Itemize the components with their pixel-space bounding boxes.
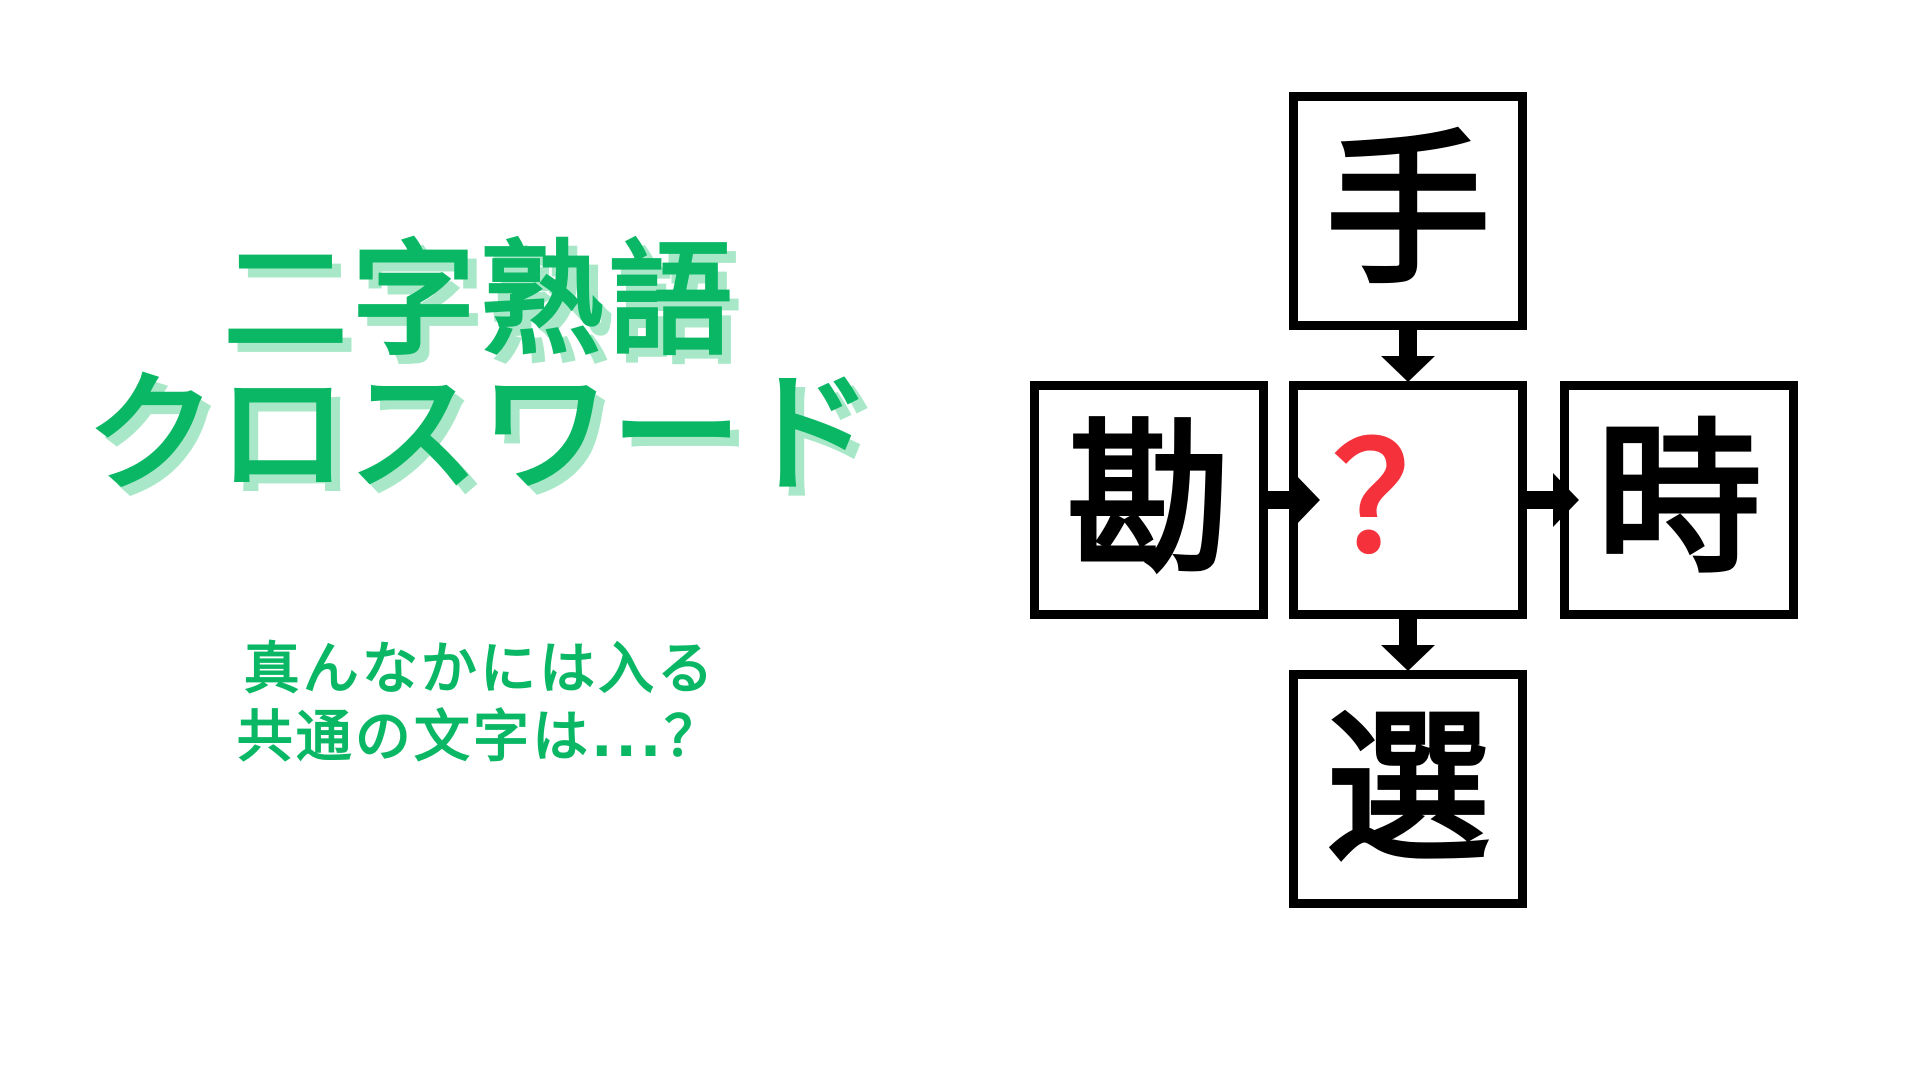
subtitle-line-1: 真んなかには入る: [0, 636, 960, 704]
subtitle-block: 真んなかには入る 共通の文字は...？: [0, 636, 960, 773]
title-panel: 二字熟語 クロスワード 真んなかには入る 共通の文字は...？: [0, 0, 960, 1080]
crossword-panel: 手 勘 ？ 時 選: [960, 0, 1920, 1080]
crossword-cell-top[interactable]: 手: [1289, 92, 1527, 330]
headline-line-1: 二字熟語: [0, 238, 960, 364]
crossword-cell-center-answer[interactable]: ？: [1289, 381, 1527, 619]
arrow-down-icon-top-to-center: [1381, 330, 1435, 382]
crossword-cell-bottom[interactable]: 選: [1289, 670, 1527, 908]
crossword-cell-bottom-char: 選: [1326, 707, 1491, 872]
crossword-cell-top-char: 手: [1326, 129, 1491, 294]
crossword-cell-left[interactable]: 勘: [1030, 381, 1268, 619]
crossword-cell-left-char: 勘: [1067, 418, 1232, 583]
arrow-right-icon-left-to-center: [1268, 473, 1320, 527]
subtitle-line-2: 共通の文字は...？: [0, 704, 960, 772]
headline-block: 二字熟語 クロスワード: [0, 238, 960, 501]
headline-line-2: クロスワード: [0, 368, 960, 501]
crossword-cell-right-char: 時: [1597, 418, 1762, 583]
arrow-down-icon-center-to-bottom: [1381, 619, 1435, 671]
arrow-right-icon-center-to-right: [1527, 473, 1579, 527]
crossword-cell-right[interactable]: 時: [1560, 381, 1798, 619]
crossword-answer-question-mark: ？: [1333, 425, 1483, 575]
